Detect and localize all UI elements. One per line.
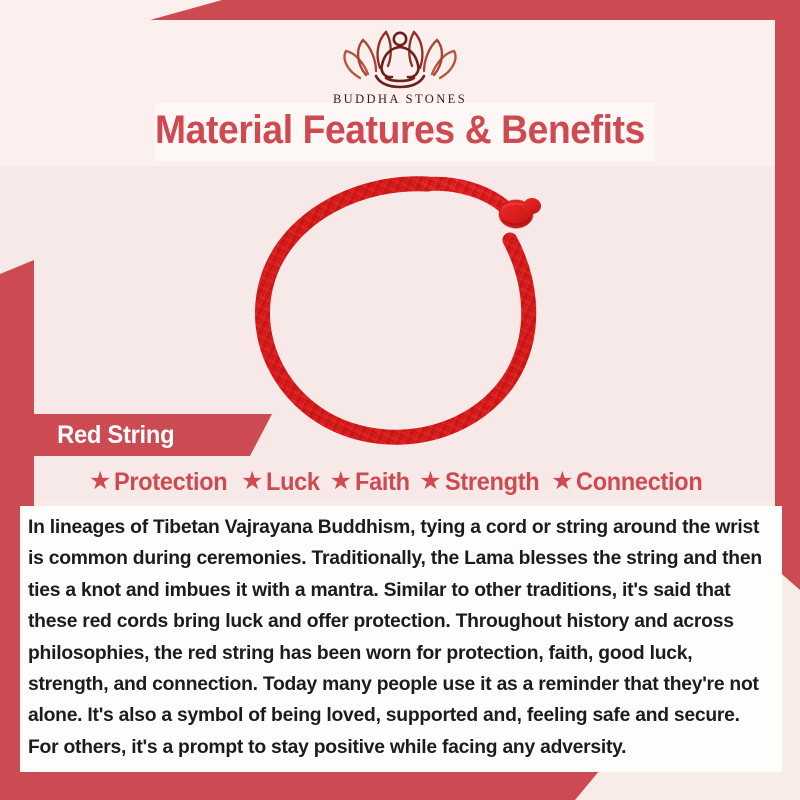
benefit-item-faith: ★ Faith xyxy=(330,468,414,497)
benefit-label: Protection xyxy=(114,468,227,497)
benefit-item-protection: ★ Protection xyxy=(89,468,235,497)
benefit-item-connection: ★ Connection xyxy=(551,468,711,497)
brand-logo: BUDDHA STONES xyxy=(0,18,800,107)
star-icon: ★ xyxy=(241,469,263,494)
benefits-list: ★ Protection ★ Luck ★ Faith ★ Strength ★… xyxy=(18,468,782,497)
decorative-red-band-bottom xyxy=(0,770,640,800)
benefit-label: Luck xyxy=(266,468,320,497)
benefit-label: Faith xyxy=(355,468,410,497)
product-feature-poster: BUDDHA STONES Material Features & Benefi… xyxy=(0,0,800,800)
benefit-label: Connection xyxy=(576,468,702,497)
material-name-label: Red String xyxy=(57,421,174,450)
star-icon: ★ xyxy=(89,469,111,494)
lotus-meditation-figure-icon xyxy=(330,18,470,90)
star-icon: ★ xyxy=(551,469,573,494)
description-text: In lineages of Tibetan Vajrayana Buddhis… xyxy=(28,512,769,763)
star-icon: ★ xyxy=(419,469,441,494)
benefit-label: Strength xyxy=(445,468,539,497)
benefit-item-luck: ★ Luck xyxy=(241,468,324,497)
benefit-item-strength: ★ Strength xyxy=(419,468,545,497)
page-title: Material Features & Benefits xyxy=(28,108,772,153)
star-icon: ★ xyxy=(330,469,352,494)
cord-knot-icon xyxy=(499,198,541,228)
